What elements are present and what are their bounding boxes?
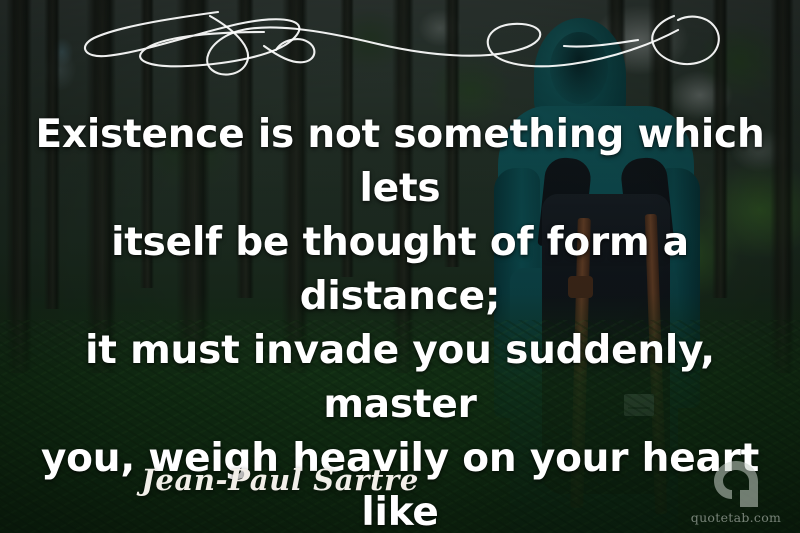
quote-author: Jean-Paul Sartre	[0, 463, 560, 497]
quote-image-card: Existence is not something which lets it…	[0, 0, 800, 533]
quotetab-q-logo-icon	[713, 460, 759, 508]
watermark[interactable]: quotetab.com	[684, 460, 788, 525]
watermark-text: quotetab.com	[684, 510, 788, 525]
